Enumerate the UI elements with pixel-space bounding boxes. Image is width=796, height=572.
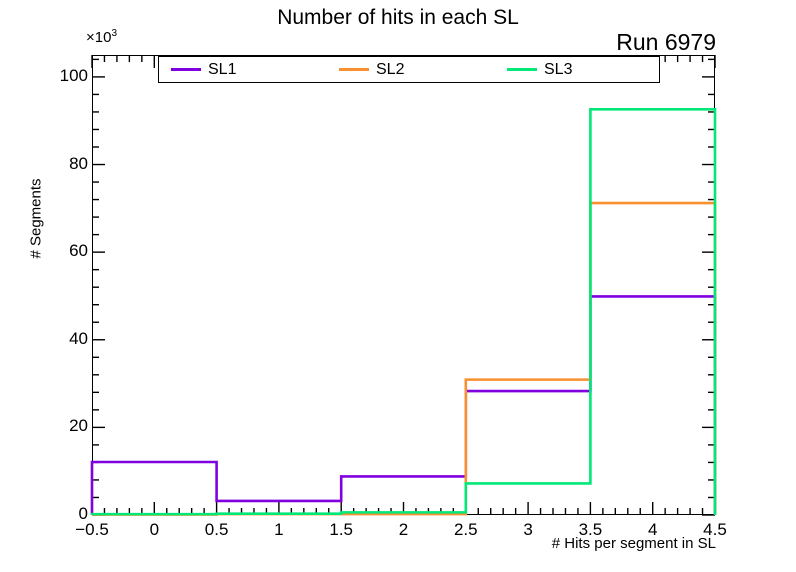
- legend-entry-sl3[interactable]: SL3: [507, 57, 572, 82]
- histogram-series-sl1: [92, 296, 715, 515]
- legend-label-sl2: SL2: [376, 62, 404, 78]
- legend[interactable]: SL1SL2SL3: [158, 56, 660, 83]
- legend-label-sl3: SL3: [544, 62, 572, 78]
- legend-entry-sl1[interactable]: SL1: [171, 57, 236, 82]
- legend-label-sl1: SL1: [208, 62, 236, 78]
- legend-swatch-sl2: [339, 68, 369, 71]
- plot-area: [0, 0, 796, 572]
- legend-swatch-sl1: [171, 68, 201, 71]
- axis-ticks: [92, 55, 715, 515]
- legend-entry-sl2[interactable]: SL2: [339, 57, 404, 82]
- histogram-series-sl2: [92, 203, 715, 515]
- chart-canvas: Number of hits in each SL Run 6979 ×103 …: [0, 0, 796, 572]
- legend-swatch-sl3: [507, 68, 537, 71]
- histogram-series-sl3: [92, 109, 715, 515]
